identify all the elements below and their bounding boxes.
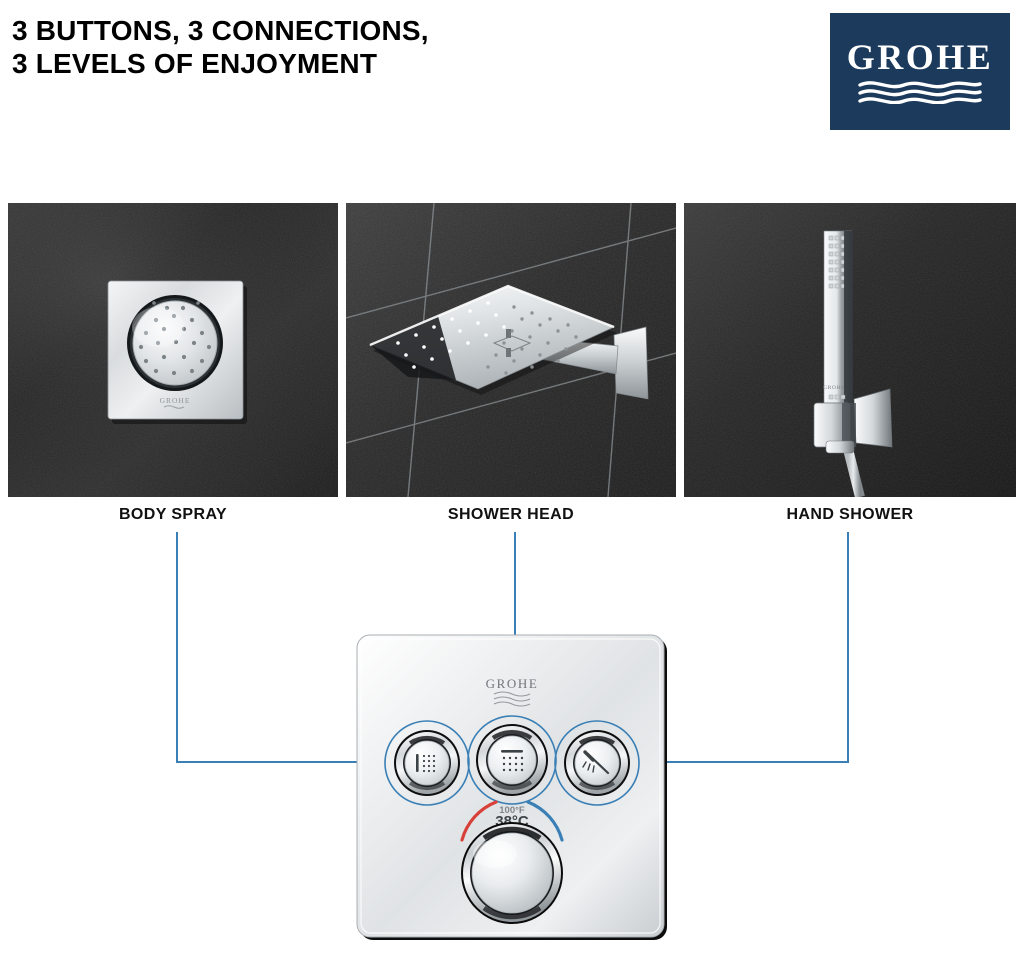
thermostat-dial-graphic — [461, 822, 563, 924]
shower-head-button-graphic — [468, 716, 556, 804]
panel-graphic: GROHE — [352, 630, 677, 950]
smartcontrol-panel[interactable]: GROHE — [352, 630, 677, 950]
poster-canvas: 3 BUTTONS, 3 CONNECTIONS, 3 LEVELS OF EN… — [0, 0, 1024, 955]
body-spray-button-graphic — [385, 721, 469, 805]
panel-brand-text: GROHE — [486, 676, 539, 691]
hand-shower-button-graphic — [555, 721, 639, 805]
